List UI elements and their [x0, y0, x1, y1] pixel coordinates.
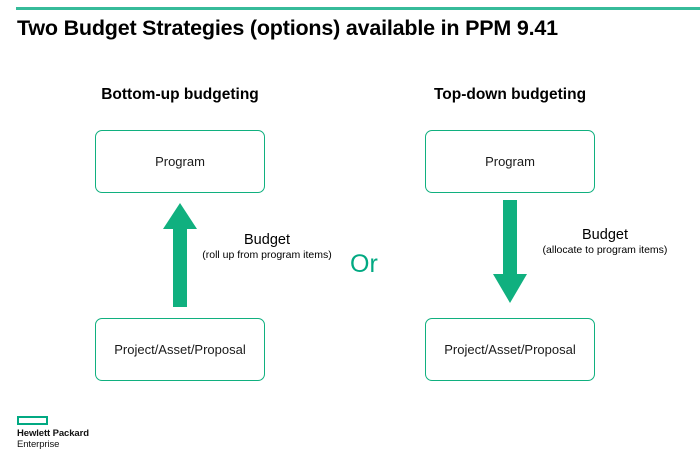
slide-canvas: Two Budget Strategies (options) availabl…: [0, 0, 700, 453]
left-budget-title: Budget: [187, 232, 347, 249]
left-project-box[interactable]: Project/Asset/Proposal: [95, 318, 265, 381]
hpe-logo-line1: Hewlett Packard: [17, 428, 89, 439]
right-budget-title: Budget: [520, 227, 690, 244]
hpe-logo: Hewlett Packard Enterprise: [17, 416, 89, 450]
column-heading-left: Bottom-up budgeting: [80, 86, 280, 104]
hpe-logo-line2: Enterprise: [17, 439, 89, 450]
column-heading-right: Top-down budgeting: [410, 86, 610, 104]
page-title: Two Budget Strategies (options) availabl…: [17, 16, 677, 41]
right-budget-caption: Budget (allocate to program items): [520, 227, 690, 257]
hpe-mark-icon: [17, 416, 48, 425]
right-budget-subtitle: (allocate to program items): [520, 244, 690, 257]
left-program-box[interactable]: Program: [95, 130, 265, 193]
left-budget-subtitle: (roll up from program items): [187, 249, 347, 262]
or-separator-label: Or: [350, 250, 378, 279]
right-project-box[interactable]: Project/Asset/Proposal: [425, 318, 595, 381]
right-program-box[interactable]: Program: [425, 130, 595, 193]
left-budget-caption: Budget (roll up from program items): [187, 232, 347, 262]
title-accent-rule: [16, 7, 700, 10]
